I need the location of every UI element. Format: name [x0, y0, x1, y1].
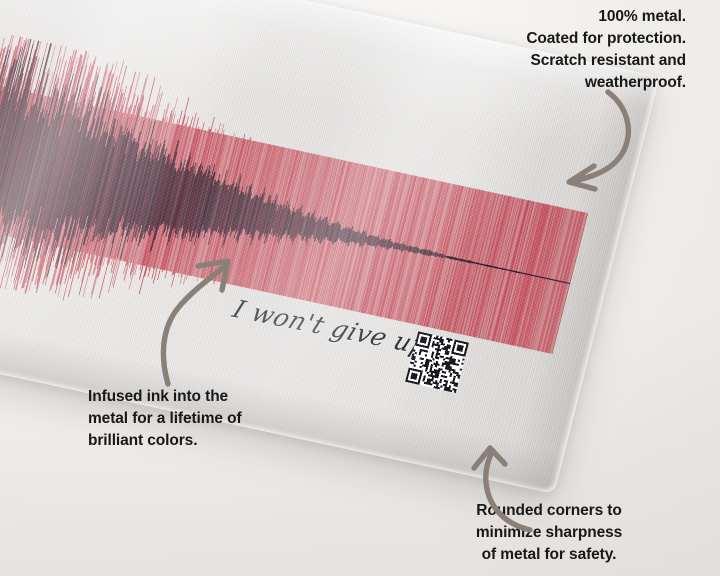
curved-arrow-down-left-icon: [516, 88, 656, 194]
callout-corner-line-3: of metal for safety.: [434, 544, 664, 566]
callout-ink-line-3: brilliant colors.: [88, 430, 318, 452]
curved-arrow-up-right-icon: [146, 236, 256, 388]
curved-arrow-up-icon: [456, 444, 548, 536]
product-photo: I won't give up 100% metal. Coated for p…: [0, 0, 720, 576]
callout-ink-line-2: metal for a lifetime of: [88, 408, 318, 430]
callout-metal-line-1: 100% metal.: [386, 6, 686, 28]
callout-ink-text: Infused ink into the metal for a lifetim…: [88, 386, 318, 452]
callout-ink-line-1: Infused ink into the: [88, 386, 318, 408]
callout-metal-line-2: Coated for protection.: [386, 28, 686, 50]
callout-metal-line-3: Scratch resistant and: [386, 50, 686, 72]
callout-metal-text: 100% metal. Coated for protection. Scrat…: [386, 6, 686, 94]
